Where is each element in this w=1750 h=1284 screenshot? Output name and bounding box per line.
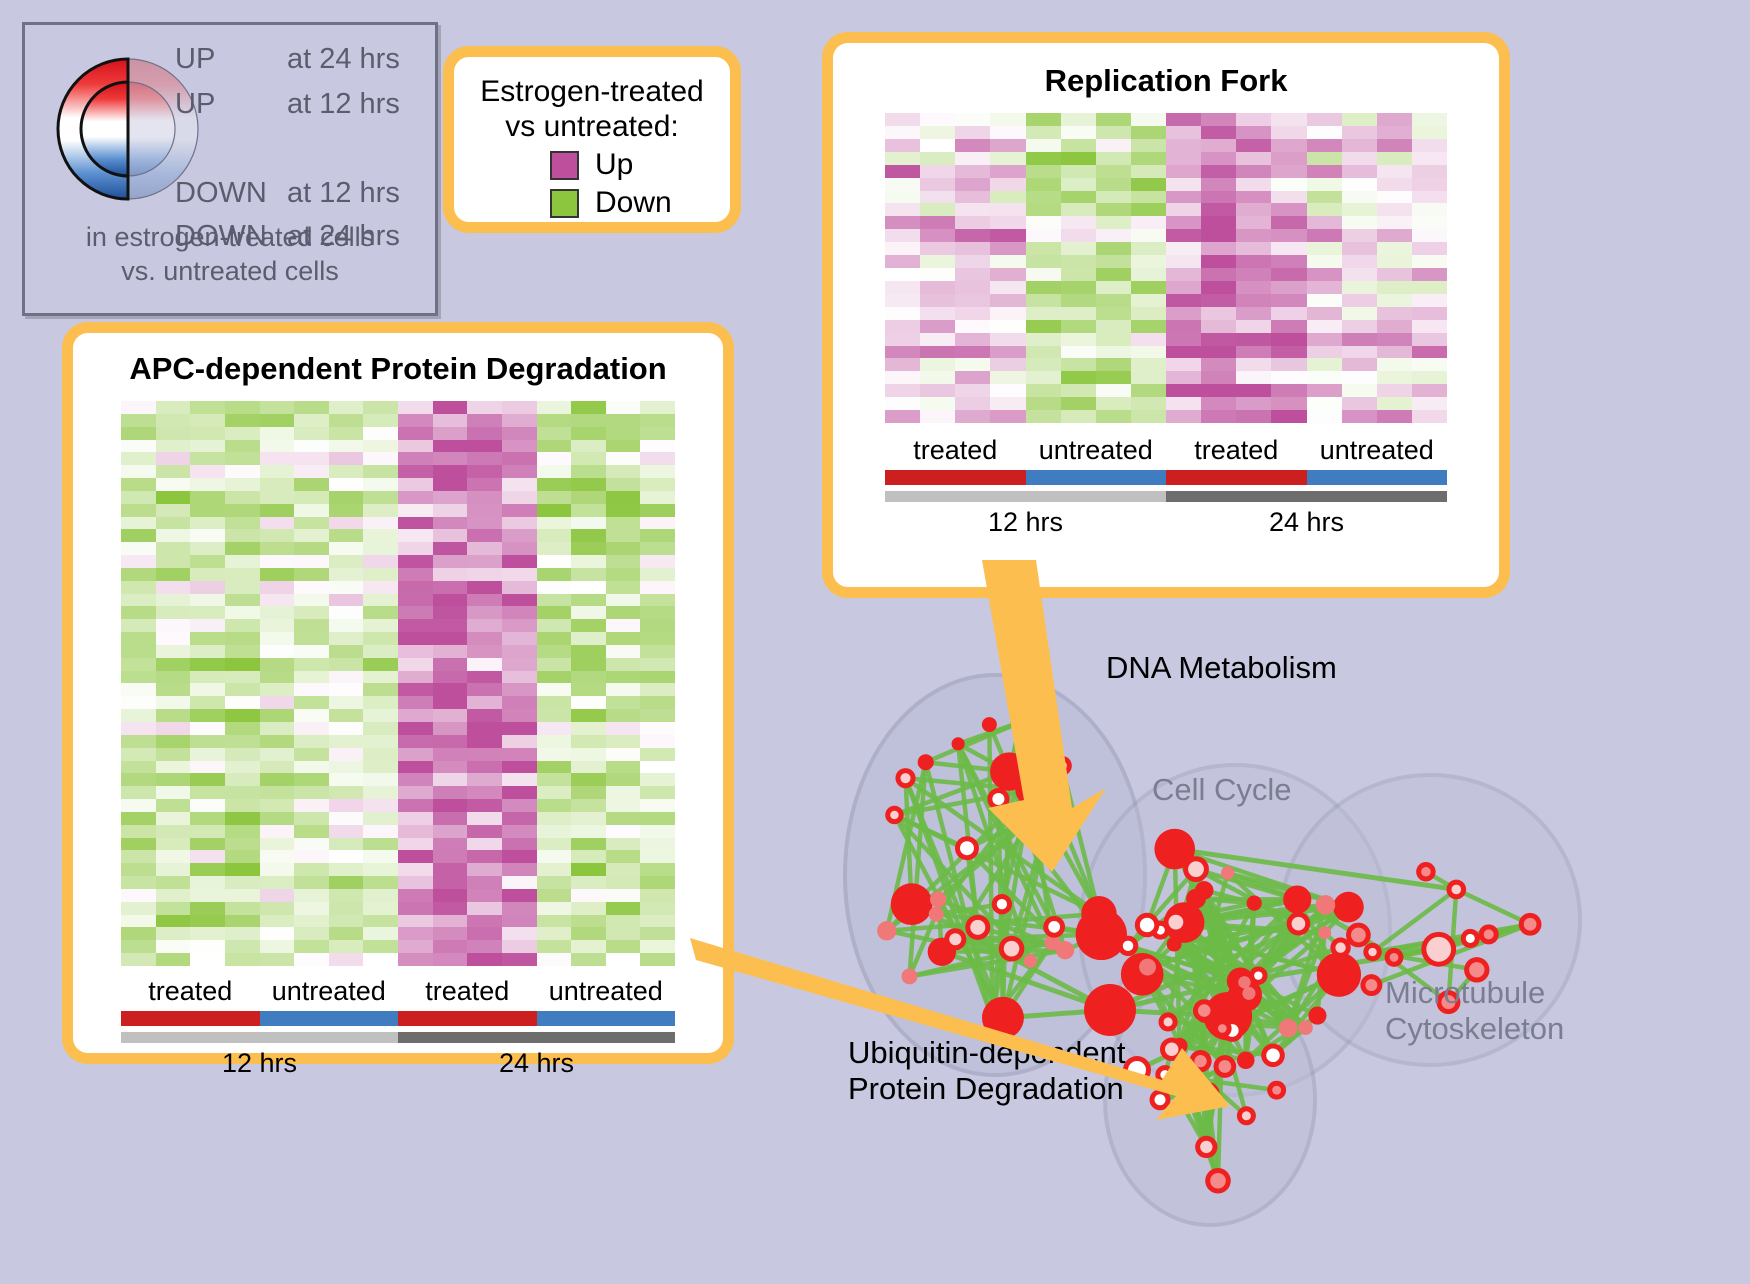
heatmap-cell xyxy=(121,915,156,928)
heatmap-cell xyxy=(640,606,675,619)
heatmap-cell xyxy=(190,876,225,889)
heatmap-cell xyxy=(990,255,1025,268)
heatmap-cell xyxy=(225,658,260,671)
heatmap-cell xyxy=(433,427,468,440)
heatmap-cell xyxy=(190,452,225,465)
heatmap-cell xyxy=(990,346,1025,359)
heatmap-cell xyxy=(920,178,955,191)
heatmap-cell xyxy=(1271,191,1306,204)
heatmap-cell xyxy=(363,953,398,966)
heatmap-cell xyxy=(885,242,920,255)
heatmap-cell xyxy=(225,735,260,748)
heatmap-cell xyxy=(467,542,502,555)
heatmap-cell xyxy=(537,876,572,889)
heatmap-cell xyxy=(156,915,191,928)
heatmap-cell xyxy=(1166,178,1201,191)
heatmap-cell xyxy=(1166,152,1201,165)
network-node-core xyxy=(1194,1055,1206,1067)
heatmap-cell xyxy=(920,333,955,346)
heatmap-cell xyxy=(398,478,433,491)
heatmap-cell xyxy=(1342,113,1377,126)
heatmap-cell xyxy=(329,773,364,786)
heatmap-cell xyxy=(398,876,433,889)
heatmap-cell xyxy=(1377,268,1412,281)
heatmap-cell xyxy=(1412,410,1447,423)
heatmap-cell xyxy=(260,504,295,517)
heatmap-cell xyxy=(955,152,990,165)
heatmap-cell xyxy=(1166,371,1201,384)
heatmap-cell xyxy=(1377,346,1412,359)
heatmap-cell xyxy=(1412,397,1447,410)
heatmap-cell xyxy=(260,606,295,619)
heatmap-cell xyxy=(329,761,364,774)
heatmap-cell xyxy=(398,722,433,735)
heatmap-cell xyxy=(294,504,329,517)
heatmap-cell xyxy=(1342,346,1377,359)
heatmap-cell xyxy=(190,401,225,414)
heatmap-cell xyxy=(433,671,468,684)
heatmap-cell xyxy=(537,799,572,812)
heatmap-cell xyxy=(1096,333,1131,346)
heatmap-cell xyxy=(1096,346,1131,359)
heatmap-cell xyxy=(363,940,398,953)
heatmap-cell xyxy=(1271,242,1306,255)
heatmap-cell xyxy=(537,401,572,414)
heatmap-cell xyxy=(1131,242,1166,255)
heatmap-cell xyxy=(1412,216,1447,229)
heatmap-cell xyxy=(885,152,920,165)
heatmap-cell xyxy=(363,452,398,465)
heatmap-cell xyxy=(640,735,675,748)
heatmap-cell xyxy=(537,555,572,568)
heatmap-cell xyxy=(225,761,260,774)
heatmap-cell xyxy=(363,645,398,658)
heatmap-cell xyxy=(537,889,572,902)
heatmap-cell xyxy=(1236,397,1271,410)
heatmap-cell xyxy=(363,683,398,696)
network-node-core xyxy=(997,899,1007,909)
heatmap-cell xyxy=(1131,178,1166,191)
heatmap-cell xyxy=(329,889,364,902)
heatmap-cell xyxy=(537,709,572,722)
network-node-core xyxy=(1057,761,1067,771)
heatmap-cell xyxy=(1236,126,1271,139)
heatmap-cell xyxy=(1166,320,1201,333)
heatmap-cell xyxy=(260,825,295,838)
heatmap-cell xyxy=(1166,203,1201,216)
heatmap-cell xyxy=(537,632,572,645)
heatmap-cell xyxy=(1342,410,1377,423)
heatmap-cell xyxy=(606,683,641,696)
network-node xyxy=(1316,895,1336,915)
heatmap-cell xyxy=(433,940,468,953)
replication-fork-time-labels: 12 hrs24 hrs xyxy=(885,507,1447,538)
network-node-core xyxy=(1451,885,1461,895)
heatmap-cell xyxy=(1166,165,1201,178)
network-node xyxy=(918,754,934,770)
heatmap-cell xyxy=(571,709,606,722)
heatmap-cell xyxy=(1342,358,1377,371)
heatmap-cell xyxy=(156,940,191,953)
heatmap-cell xyxy=(885,229,920,242)
network-node-core xyxy=(1272,1086,1281,1095)
heatmap-cell xyxy=(1342,333,1377,346)
heatmap-cell xyxy=(1307,371,1342,384)
heatmap-cell xyxy=(606,761,641,774)
heatmap-cell xyxy=(398,594,433,607)
network-node-core xyxy=(1123,941,1134,952)
heatmap-cell xyxy=(121,414,156,427)
heatmap-cell xyxy=(606,927,641,940)
heatmap-cell xyxy=(571,786,606,799)
heatmap-cell xyxy=(920,152,955,165)
heatmap-cell xyxy=(502,606,537,619)
heatmap-cell xyxy=(156,632,191,645)
time-colour-bar xyxy=(398,1032,675,1043)
heatmap-cell xyxy=(260,915,295,928)
heatmap-cell xyxy=(1061,126,1096,139)
heatmap-cell xyxy=(433,465,468,478)
heatmap-cell xyxy=(190,606,225,619)
heatmap-cell xyxy=(329,517,364,530)
heatmap-cell xyxy=(571,863,606,876)
heatmap-cell xyxy=(329,581,364,594)
heatmap-cell xyxy=(1307,358,1342,371)
heatmap-cell xyxy=(571,735,606,748)
heatmap-cell xyxy=(1377,397,1412,410)
network-node xyxy=(1056,941,1074,959)
heatmap-cell xyxy=(260,581,295,594)
heatmap-cell xyxy=(640,915,675,928)
apc-group-bars xyxy=(121,1011,675,1026)
heatmap-cell xyxy=(329,683,364,696)
heatmap-cell xyxy=(294,478,329,491)
heatmap-cell xyxy=(1026,113,1061,126)
heatmap-cell xyxy=(156,683,191,696)
heatmap-cell xyxy=(1026,242,1061,255)
network-node-core xyxy=(960,841,974,855)
heatmap-cell xyxy=(1166,294,1201,307)
heatmap-cell xyxy=(1096,242,1131,255)
heatmap-cell xyxy=(1236,384,1271,397)
heatmap-cell xyxy=(294,927,329,940)
heatmap-cell xyxy=(190,915,225,928)
heatmap-cell xyxy=(606,594,641,607)
heatmap-cell xyxy=(1236,346,1271,359)
heatmap-cell xyxy=(1342,255,1377,268)
heatmap-cell xyxy=(398,504,433,517)
heatmap-cell xyxy=(294,722,329,735)
heatmap-cell xyxy=(502,773,537,786)
heatmap-cell xyxy=(1131,410,1166,423)
heatmap-cell xyxy=(433,825,468,838)
heatmap-cell xyxy=(1271,294,1306,307)
heatmap-cell xyxy=(190,940,225,953)
heatmap-cell xyxy=(294,902,329,915)
heatmap-cell xyxy=(1096,397,1131,410)
heatmap-cell xyxy=(1061,113,1096,126)
heatmap-cell xyxy=(1271,281,1306,294)
down-swatch-icon xyxy=(550,189,579,218)
heatmap-cell xyxy=(1201,410,1236,423)
network-node xyxy=(1333,892,1364,923)
heatmap-cell xyxy=(885,178,920,191)
heatmap-cell xyxy=(640,542,675,555)
heatmap-cell xyxy=(920,165,955,178)
heatmap-cell xyxy=(571,658,606,671)
network-node-core xyxy=(1218,1024,1227,1033)
heatmap-cell xyxy=(467,927,502,940)
heatmap-cell xyxy=(121,889,156,902)
heatmap-cell xyxy=(640,889,675,902)
heatmap-cell xyxy=(990,229,1025,242)
heatmap-cell xyxy=(190,683,225,696)
heatmap-cell xyxy=(260,761,295,774)
heatmap-cell xyxy=(294,863,329,876)
heatmap-cell xyxy=(363,594,398,607)
apc-degradation-title: APC-dependent Protein Degradation xyxy=(73,351,723,387)
heatmap-cell xyxy=(640,838,675,851)
heatmap-cell xyxy=(502,683,537,696)
heatmap-cell xyxy=(156,529,191,542)
network-node-core xyxy=(1165,1043,1178,1056)
heatmap-cell xyxy=(1236,242,1271,255)
heatmap-cell xyxy=(1412,203,1447,216)
heatmap-cell xyxy=(1236,358,1271,371)
network-node-core xyxy=(1254,971,1262,979)
heatmap-cell xyxy=(156,555,191,568)
network-node xyxy=(952,737,965,750)
heatmap-cell xyxy=(1377,410,1412,423)
heatmap-cell xyxy=(537,491,572,504)
heatmap-cell xyxy=(467,658,502,671)
heatmap-cell xyxy=(1307,216,1342,229)
key-row-down-12: DOWN at 12 hrs xyxy=(175,179,425,208)
network-node-core xyxy=(1524,918,1537,931)
heatmap-cell xyxy=(225,606,260,619)
heatmap-cell xyxy=(225,594,260,607)
heatmap-cell xyxy=(363,517,398,530)
heatmap-cell xyxy=(398,568,433,581)
heatmap-cell xyxy=(1061,152,1096,165)
heatmap-cell xyxy=(1271,152,1306,165)
heatmap-cell xyxy=(121,542,156,555)
heatmap-cell xyxy=(640,761,675,774)
heatmap-cell xyxy=(156,799,191,812)
network-node xyxy=(1238,976,1250,988)
heatmap-cell xyxy=(1271,307,1306,320)
heatmap-cell xyxy=(920,255,955,268)
heatmap-cell xyxy=(398,761,433,774)
heatmap-cell xyxy=(294,825,329,838)
heatmap-cell xyxy=(537,414,572,427)
heatmap-cell xyxy=(363,401,398,414)
heatmap-cell xyxy=(1166,113,1201,126)
heatmap-cell xyxy=(1131,165,1166,178)
heatmap-cell xyxy=(606,940,641,953)
heatmap-cell xyxy=(885,126,920,139)
heatmap-cell xyxy=(156,542,191,555)
heatmap-cell xyxy=(260,902,295,915)
heatmap-cell xyxy=(294,645,329,658)
heatmap-cell xyxy=(398,850,433,863)
heatmap-cell xyxy=(190,478,225,491)
heatmap-cell xyxy=(398,683,433,696)
heatmap-cell xyxy=(398,786,433,799)
heatmap-cell xyxy=(294,876,329,889)
heatmap-cell xyxy=(433,683,468,696)
heatmap-cell xyxy=(1061,229,1096,242)
heatmap-cell xyxy=(1307,346,1342,359)
up-swatch-icon xyxy=(550,151,579,180)
heatmap-cell xyxy=(433,619,468,632)
heatmap-cell xyxy=(606,568,641,581)
heatmap-cell xyxy=(1026,191,1061,204)
heatmap-cell xyxy=(571,632,606,645)
key-label: UP xyxy=(175,45,287,74)
apc-group-labels: treateduntreatedtreateduntreated xyxy=(121,976,675,1007)
heatmap-cell xyxy=(156,902,191,915)
heatmap-cell xyxy=(1342,320,1377,333)
heatmap-cell xyxy=(1307,165,1342,178)
heatmap-cell xyxy=(1412,294,1447,307)
heatmap-cell xyxy=(398,709,433,722)
heatmap-cell xyxy=(329,812,364,825)
heatmap-cell xyxy=(1201,397,1236,410)
heatmap-cell xyxy=(225,581,260,594)
heatmap-cell xyxy=(363,773,398,786)
heatmap-cell xyxy=(156,606,191,619)
heatmap-cell xyxy=(502,799,537,812)
heatmap-cell xyxy=(1377,281,1412,294)
apc-degradation-panel: APC-dependent Protein Degradation treate… xyxy=(62,322,734,1064)
heatmap-cell xyxy=(1201,152,1236,165)
heatmap-cell xyxy=(537,517,572,530)
heatmap-cell xyxy=(537,683,572,696)
heatmap-cell xyxy=(640,427,675,440)
key-label: DOWN xyxy=(175,179,287,208)
heatmap-cell xyxy=(1026,203,1061,216)
heatmap-cell xyxy=(294,683,329,696)
heatmap-cell xyxy=(260,452,295,465)
heatmap-cell xyxy=(190,812,225,825)
heatmap-cell xyxy=(640,555,675,568)
heatmap-cell xyxy=(640,504,675,517)
heatmap-cell xyxy=(571,953,606,966)
heatmap-cell xyxy=(1307,203,1342,216)
heatmap-cell xyxy=(363,581,398,594)
heatmap-cell xyxy=(537,658,572,671)
heatmap-cell xyxy=(955,255,990,268)
heatmap-cell xyxy=(537,581,572,594)
heatmap-cell xyxy=(260,658,295,671)
heatmap-cell xyxy=(606,555,641,568)
heatmap-cell xyxy=(260,440,295,453)
heatmap-cell xyxy=(190,825,225,838)
heatmap-cell xyxy=(363,529,398,542)
heatmap-cell xyxy=(363,696,398,709)
heatmap-cell xyxy=(1026,126,1061,139)
heatmap-cell xyxy=(1377,358,1412,371)
network-node xyxy=(1237,1052,1255,1070)
heatmap-cell xyxy=(571,876,606,889)
heatmap-cell xyxy=(156,452,191,465)
time-colour-bar xyxy=(885,491,1166,502)
heatmap-cell xyxy=(190,902,225,915)
network-node-core xyxy=(1210,1173,1226,1189)
heatmap-cell xyxy=(1342,152,1377,165)
heatmap-cell xyxy=(121,504,156,517)
heatmap-cell xyxy=(121,581,156,594)
heatmap-cell xyxy=(1096,113,1131,126)
heatmap-cell xyxy=(640,478,675,491)
heatmap-cell xyxy=(398,619,433,632)
heatmap-cell xyxy=(606,799,641,812)
heatmap-cell xyxy=(1166,410,1201,423)
heatmap-cell xyxy=(156,517,191,530)
heatmap-cell xyxy=(606,696,641,709)
heatmap-cell xyxy=(955,397,990,410)
heatmap-cell xyxy=(260,735,295,748)
heatmap-cell xyxy=(294,838,329,851)
heatmap-cell xyxy=(640,581,675,594)
heatmap-cell xyxy=(571,915,606,928)
heatmap-cell xyxy=(885,371,920,384)
heatmap-cell xyxy=(121,555,156,568)
heatmap-cell xyxy=(363,709,398,722)
heatmap-cell xyxy=(1271,113,1306,126)
heatmap-cell xyxy=(260,555,295,568)
heatmap-cell xyxy=(329,555,364,568)
heatmap-cell xyxy=(640,491,675,504)
heatmap-cell xyxy=(640,748,675,761)
heatmap-cell xyxy=(640,902,675,915)
heatmap-cell xyxy=(640,786,675,799)
heatmap-cell xyxy=(1271,320,1306,333)
heatmap-cell xyxy=(329,696,364,709)
heatmap-cell xyxy=(329,876,364,889)
heatmap-cell xyxy=(1096,294,1131,307)
heatmap-cell xyxy=(294,465,329,478)
heatmap-cell xyxy=(1307,152,1342,165)
heatmap-cell xyxy=(1236,268,1271,281)
heatmap-cell xyxy=(537,786,572,799)
heatmap-cell xyxy=(225,645,260,658)
heatmap-cell xyxy=(190,594,225,607)
time-colour-bar xyxy=(121,1032,398,1043)
heatmap-cell xyxy=(433,709,468,722)
heatmap-cell xyxy=(190,761,225,774)
heatmap-cell xyxy=(121,902,156,915)
heatmap-cell xyxy=(1271,126,1306,139)
heatmap-cell xyxy=(502,542,537,555)
heatmap-cell xyxy=(190,735,225,748)
heatmap-cell xyxy=(121,786,156,799)
heatmap-cell xyxy=(1061,410,1096,423)
heatmap-cell xyxy=(1096,126,1131,139)
heatmap-cell xyxy=(260,645,295,658)
heatmap-cell xyxy=(955,139,990,152)
heatmap-cell xyxy=(537,671,572,684)
heatmap-cell xyxy=(121,568,156,581)
heatmap-cell xyxy=(502,709,537,722)
heatmap-cell xyxy=(1026,165,1061,178)
heatmap-cell xyxy=(1166,333,1201,346)
heatmap-cell xyxy=(1061,371,1096,384)
heatmap-cell xyxy=(260,632,295,645)
heatmap-cell xyxy=(121,465,156,478)
heatmap-cell xyxy=(606,581,641,594)
